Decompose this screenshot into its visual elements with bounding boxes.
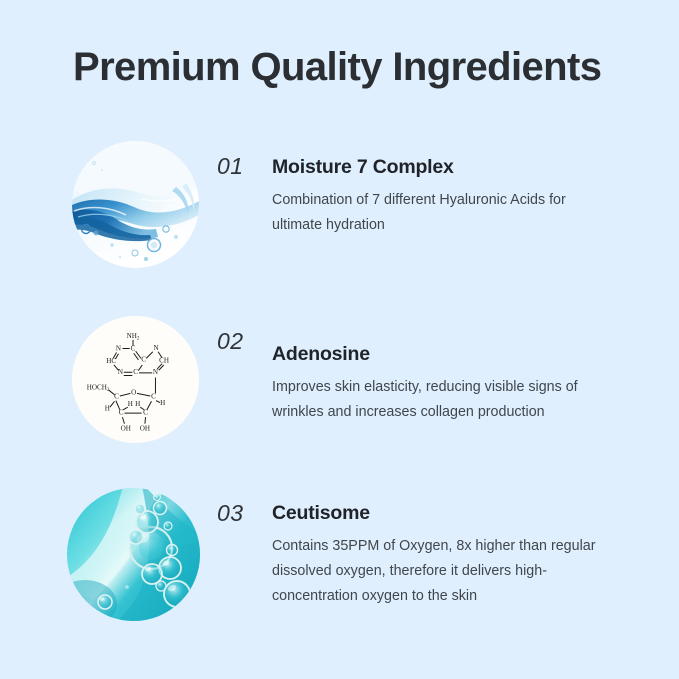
ingredient-number-1: 01 — [217, 153, 244, 180]
ingredients-infographic: Premium Quality Ingredients — [0, 0, 679, 679]
molecule-label-n1: N — [116, 344, 121, 352]
molecule-label-h3prime: H — [128, 400, 133, 408]
molecule-label-n3: N — [118, 368, 123, 376]
ingredient-description-2: Improves skin elasticity, reducing visib… — [272, 375, 602, 425]
ingredient-title-1: Moisture 7 Complex — [272, 155, 602, 180]
ingredient-description-1: Combination of 7 different Hyaluronic Ac… — [272, 188, 602, 238]
water-splash-illustration — [72, 141, 199, 268]
adenosine-structure-illustration: NH2 C N HC N C C — [72, 316, 199, 443]
ingredient-title-2: Adenosine — [272, 342, 602, 367]
molecule-label-n9: N — [153, 368, 158, 376]
page-title: Premium Quality Ingredients — [73, 44, 601, 90]
molecule-label-h2prime: H — [135, 400, 140, 408]
molecule-label-c1prime: C — [151, 393, 156, 401]
molecule-label-c4: C — [133, 368, 138, 376]
ingredient-text-1: Moisture 7 Complex Combination of 7 diff… — [272, 141, 602, 238]
molecule-label-c4prime: C — [114, 393, 119, 401]
ingredient-title-3: Ceutisome — [272, 501, 602, 526]
molecule-label-h4prime: H — [105, 405, 110, 413]
ingredient-text-2: Adenosine Improves skin elasticity, redu… — [272, 316, 602, 425]
molecule-label-oh2: OH — [140, 424, 150, 432]
molecule-label-oh3: OH — [121, 424, 131, 432]
molecule-label-h1prime: H — [160, 399, 165, 407]
molecule-label-c6: C — [131, 344, 136, 352]
molecule-label-c5: C — [141, 356, 146, 364]
ingredient-number-3: 03 — [217, 500, 244, 527]
ingredient-text-3: Ceutisome Contains 35PPM of Oxygen, 8x h… — [272, 488, 602, 609]
ingredient-description-3: Contains 35PPM of Oxygen, 8x higher than… — [272, 534, 602, 609]
water-splash-photo — [72, 141, 199, 268]
adenosine-molecule-diagram: NH2 C N HC N C C — [72, 316, 199, 443]
molecule-label-ch8: CH — [159, 356, 169, 364]
ingredient-number-2: 02 — [217, 328, 244, 355]
oxygen-bubbles-illustration — [67, 488, 200, 621]
oxygen-bubbles-photo — [67, 488, 200, 621]
molecule-label-hc2: HC — [106, 357, 116, 365]
molecule-label-o-ring: O — [131, 389, 136, 397]
molecule-label-n7: N — [154, 344, 159, 352]
